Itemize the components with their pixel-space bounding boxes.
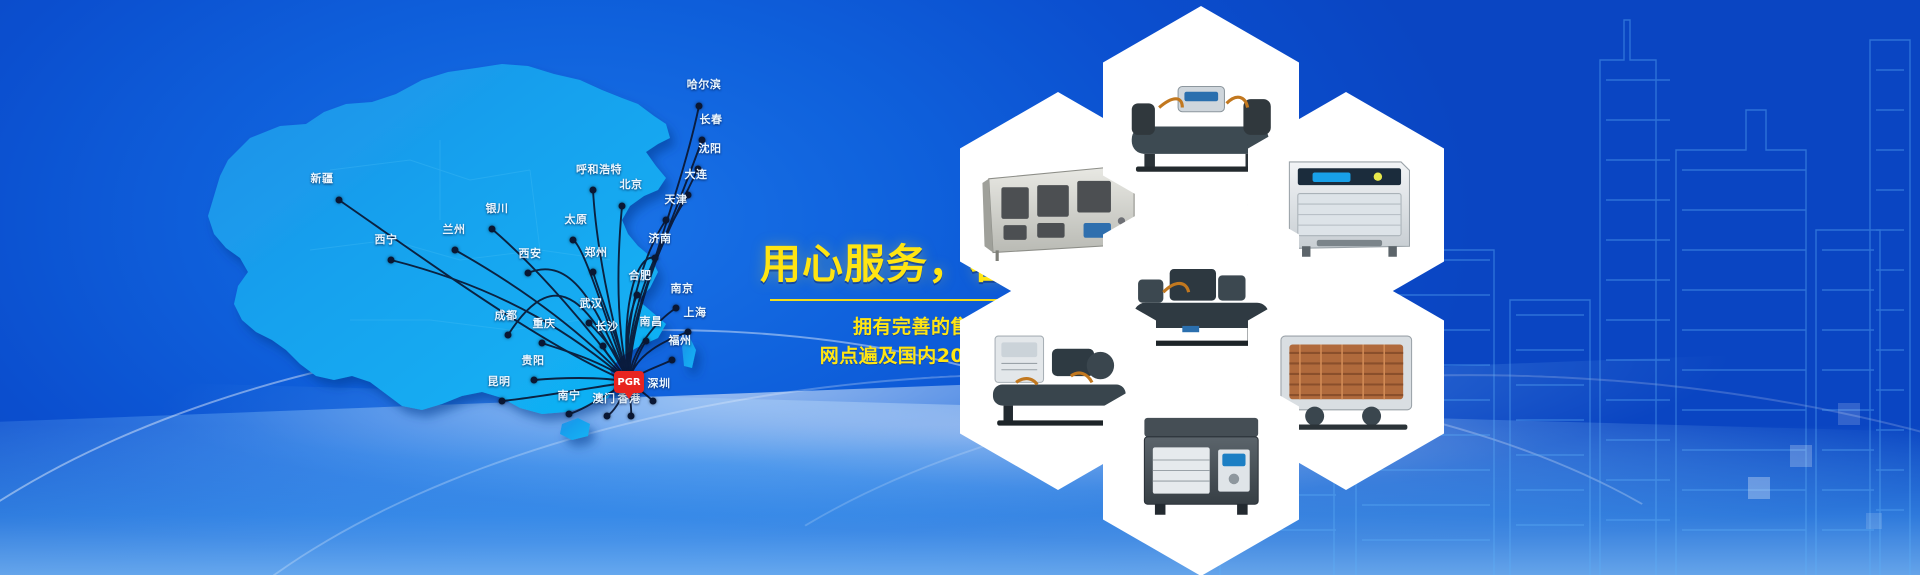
city-label: 武汉 [580, 295, 603, 311]
city-dot[interactable] [619, 203, 626, 210]
square-decoration [1748, 477, 1770, 499]
china-map-svg [110, 20, 670, 440]
city-label: 兰州 [443, 221, 466, 237]
city-dot[interactable] [566, 411, 573, 418]
china-distribution-map: 新疆呼和浩特北京哈尔滨长春沈阳大连天津银川太原兰州西宁济南西安郑州合肥南京上海武… [110, 20, 670, 440]
city-label: 昆明 [488, 373, 511, 389]
city-dot[interactable] [650, 398, 657, 405]
city-dot[interactable] [531, 377, 538, 384]
city-label: 大连 [685, 166, 708, 182]
city-label: 重庆 [533, 315, 556, 331]
city-label: 福州 [669, 332, 692, 348]
city-label: 呼和浩特 [576, 161, 622, 177]
city-dot[interactable] [673, 305, 680, 312]
city-dot[interactable] [388, 257, 395, 264]
city-dot[interactable] [604, 413, 611, 420]
city-dot[interactable] [539, 340, 546, 347]
city-label: 北京 [620, 176, 643, 192]
city-dot[interactable] [652, 255, 659, 262]
city-label: 长春 [700, 111, 723, 127]
square-decoration [1866, 513, 1882, 529]
city-dot[interactable] [505, 332, 512, 339]
city-dot[interactable] [336, 197, 343, 204]
city-label: 长沙 [596, 318, 619, 334]
headquarters-hub-marker[interactable]: PGR [614, 371, 644, 393]
city-dot[interactable] [586, 320, 593, 327]
city-label: 深圳 [648, 375, 671, 391]
square-decoration [1838, 403, 1860, 425]
city-label: 南宁 [558, 387, 581, 403]
city-dot[interactable] [570, 237, 577, 244]
city-label: 贵阳 [522, 352, 545, 368]
hub-label: PGR [617, 377, 640, 388]
product-photo [1117, 375, 1286, 551]
city-label: 南京 [671, 280, 694, 296]
city-label: 西安 [519, 245, 542, 261]
city-dot[interactable] [590, 269, 597, 276]
city-label: 成都 [495, 307, 518, 323]
city-label: 哈尔滨 [687, 76, 722, 92]
city-label: 郑州 [585, 244, 608, 260]
city-label: 澳门 [593, 390, 616, 406]
city-dot[interactable] [452, 247, 459, 254]
city-dot[interactable] [590, 187, 597, 194]
city-label: 济南 [649, 230, 672, 246]
city-dot[interactable] [628, 413, 635, 420]
city-label: 上海 [684, 304, 707, 320]
square-decoration [1790, 445, 1812, 467]
city-label: 天津 [665, 191, 688, 207]
city-label: 合肥 [629, 267, 652, 283]
city-label: 南昌 [640, 313, 663, 329]
city-dot[interactable] [663, 217, 670, 224]
city-dot[interactable] [525, 270, 532, 277]
marketing-banner: 新疆呼和浩特北京哈尔滨长春沈阳大连天津银川太原兰州西宁济南西安郑州合肥南京上海武… [0, 0, 1920, 575]
city-dot[interactable] [600, 343, 607, 350]
city-label: 新疆 [311, 170, 334, 186]
city-dot[interactable] [643, 338, 650, 345]
product-hexagon-gallery [960, 0, 1520, 575]
city-dot[interactable] [489, 226, 496, 233]
city-label: 西宁 [375, 231, 398, 247]
city-dot[interactable] [634, 292, 641, 299]
city-dot[interactable] [696, 103, 703, 110]
city-dot[interactable] [499, 398, 506, 405]
city-label: 银川 [486, 200, 509, 216]
city-dot[interactable] [669, 357, 676, 364]
city-label: 太原 [565, 211, 588, 227]
city-label: 沈阳 [699, 140, 722, 156]
